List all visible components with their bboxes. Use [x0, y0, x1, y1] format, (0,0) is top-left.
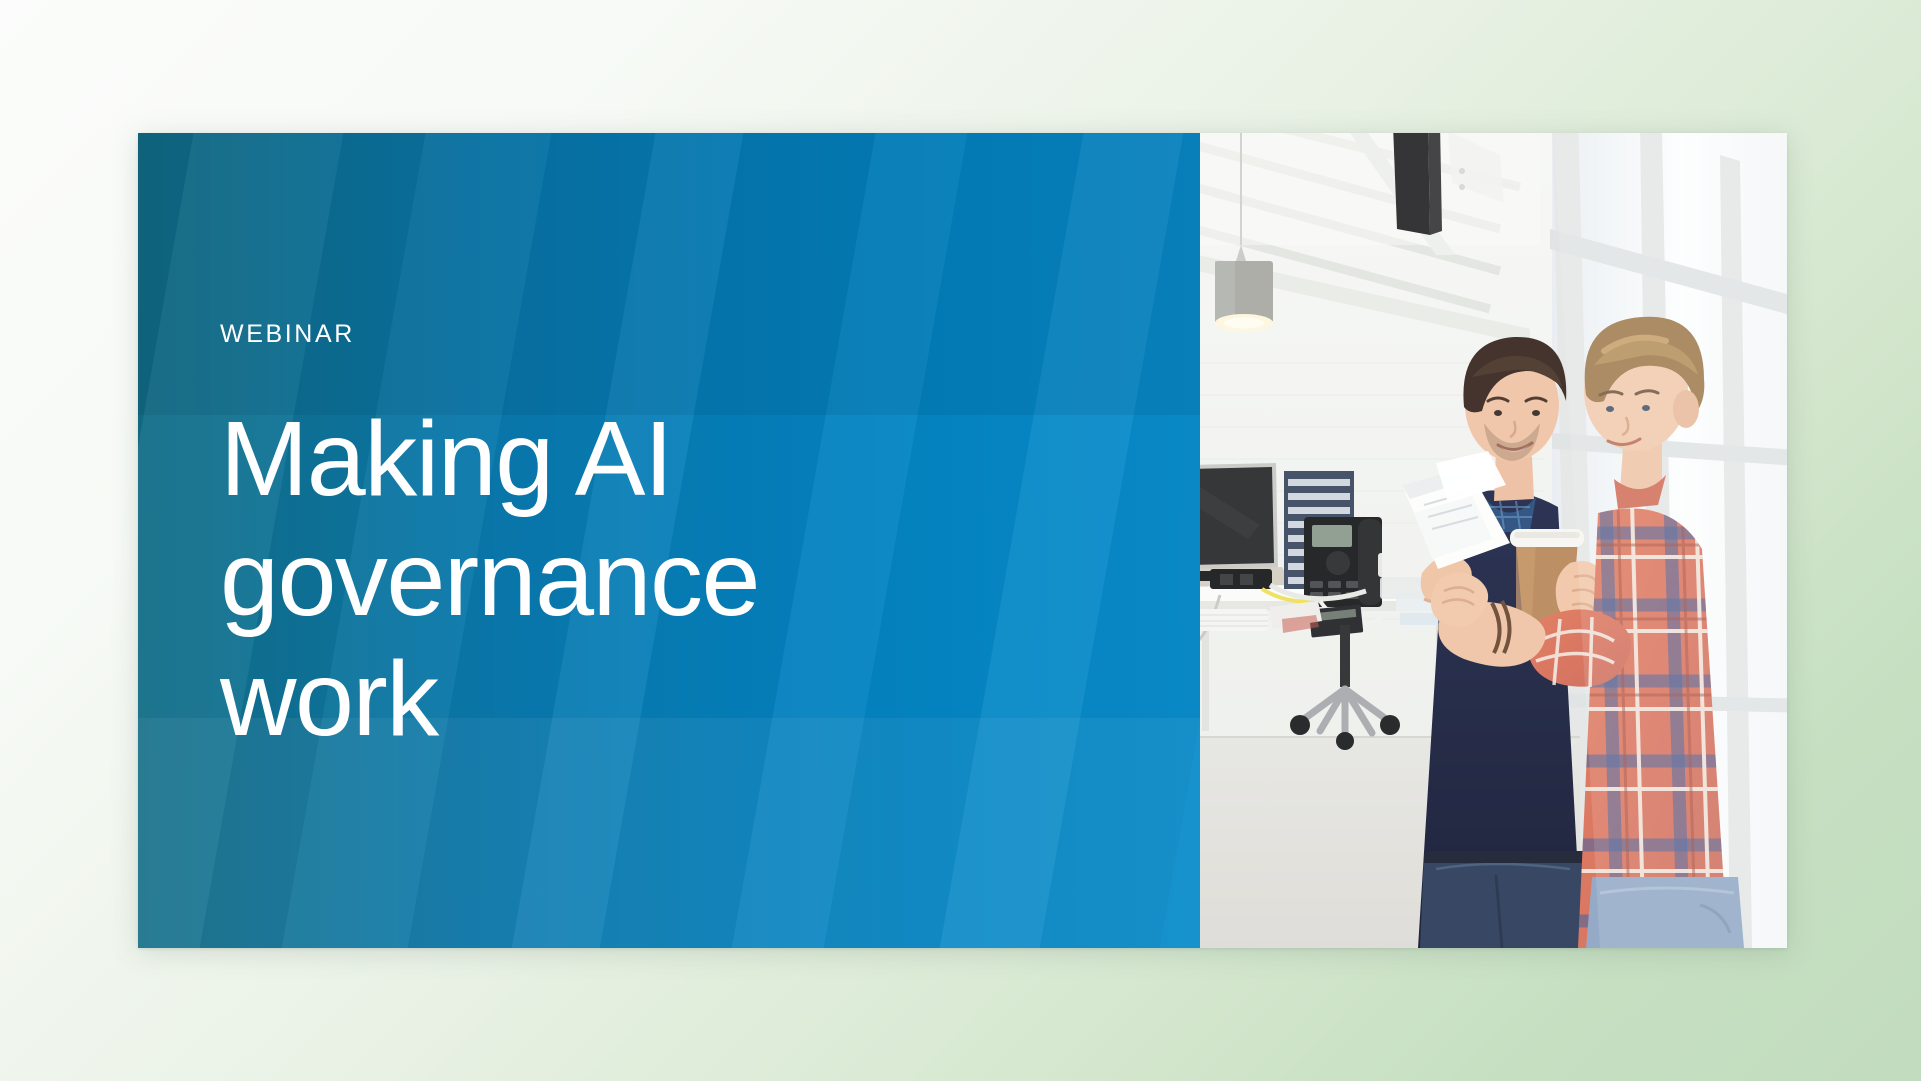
title-panel: WEBINAR Making AI governance work	[138, 133, 1200, 948]
office-photo-illustration	[1200, 133, 1787, 948]
webinar-promo-card[interactable]: WEBINAR Making AI governance work	[138, 133, 1787, 948]
office-photo	[1200, 133, 1787, 948]
eyebrow-label: WEBINAR	[220, 322, 1160, 347]
page-title: Making AI governance work	[220, 399, 1160, 760]
panel-text-block: WEBINAR Making AI governance work	[220, 133, 1160, 948]
